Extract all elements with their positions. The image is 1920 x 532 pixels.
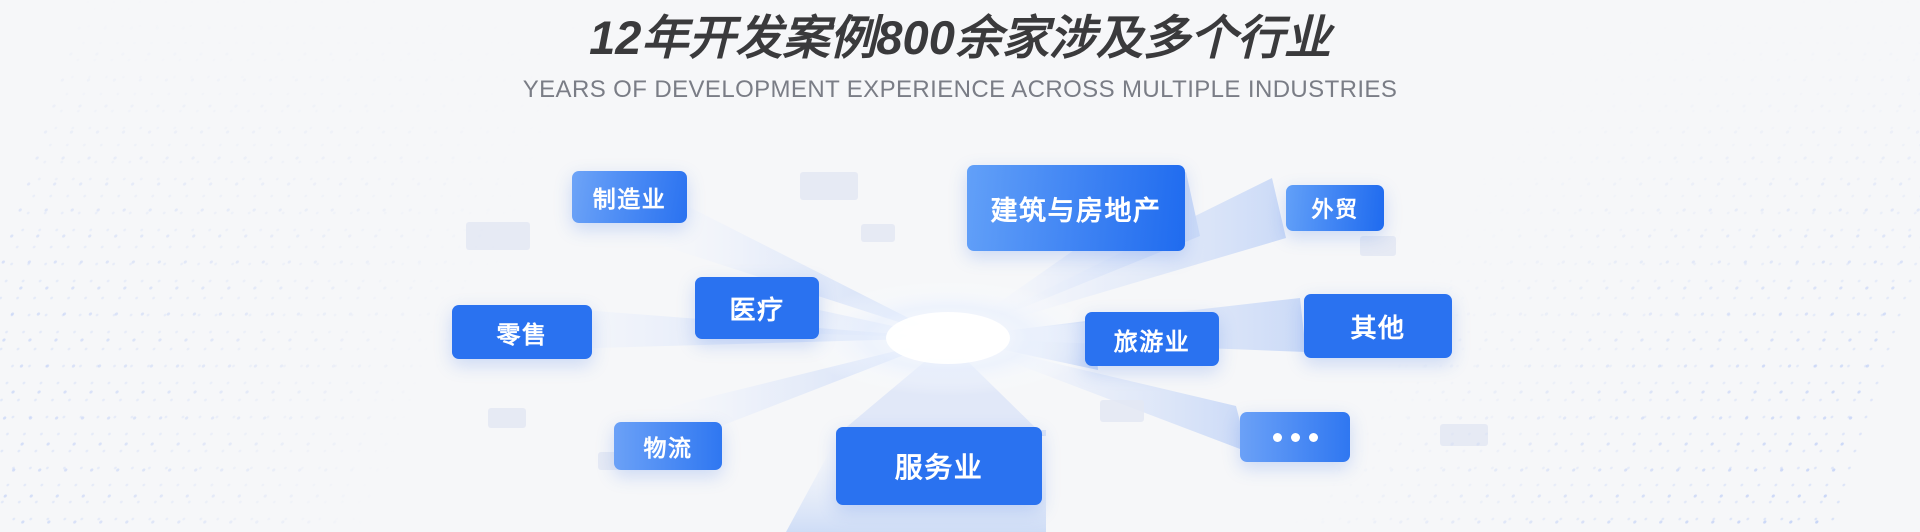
- industry-tag-foreign-trade[interactable]: 外贸: [1286, 185, 1384, 231]
- ellipsis-icon: [1273, 433, 1318, 442]
- ghost-box: [800, 172, 858, 200]
- industry-tag-more[interactable]: [1240, 412, 1350, 462]
- industry-tag-label: 外贸: [1311, 192, 1358, 224]
- header-block: 12年开发案例800余家涉及多个行业 YEARS OF DEVELOPMENT …: [0, 8, 1920, 104]
- ghost-box: [861, 224, 895, 242]
- ghost-box: [1440, 424, 1488, 446]
- industry-tag-medical[interactable]: 医疗: [695, 277, 819, 339]
- industry-tag-label: 建筑与房地产: [991, 189, 1162, 228]
- industry-tag-label: 制造业: [593, 180, 667, 214]
- ghost-box: [1100, 400, 1144, 422]
- industry-tag-logistics[interactable]: 物流: [614, 422, 722, 470]
- page-title: 12年开发案例800余家涉及多个行业: [0, 8, 1920, 68]
- industry-tag-manufacturing[interactable]: 制造业: [572, 171, 687, 223]
- industry-tag-service[interactable]: 服务业: [836, 427, 1042, 505]
- industry-tag-construction[interactable]: 建筑与房地产: [967, 165, 1185, 251]
- industry-tag-label: 服务业: [895, 446, 984, 486]
- industry-tag-label: 医疗: [729, 290, 784, 327]
- industry-tag-retail[interactable]: 零售: [452, 305, 592, 359]
- ghost-box: [488, 408, 526, 428]
- industry-tag-label: 其他: [1350, 308, 1405, 345]
- ghost-box: [1360, 236, 1396, 256]
- industry-tag-tourism[interactable]: 旅游业: [1085, 312, 1219, 366]
- industry-tag-others[interactable]: 其他: [1304, 294, 1452, 358]
- industry-tag-label: 物流: [644, 429, 693, 463]
- ghost-box: [466, 222, 530, 250]
- page-subtitle: YEARS OF DEVELOPMENT EXPERIENCE ACROSS M…: [0, 76, 1920, 104]
- industry-tag-label: 旅游业: [1114, 322, 1191, 357]
- industry-showcase-banner: 12年开发案例800余家涉及多个行业 YEARS OF DEVELOPMENT …: [0, 0, 1920, 532]
- industry-tag-label: 零售: [497, 315, 548, 350]
